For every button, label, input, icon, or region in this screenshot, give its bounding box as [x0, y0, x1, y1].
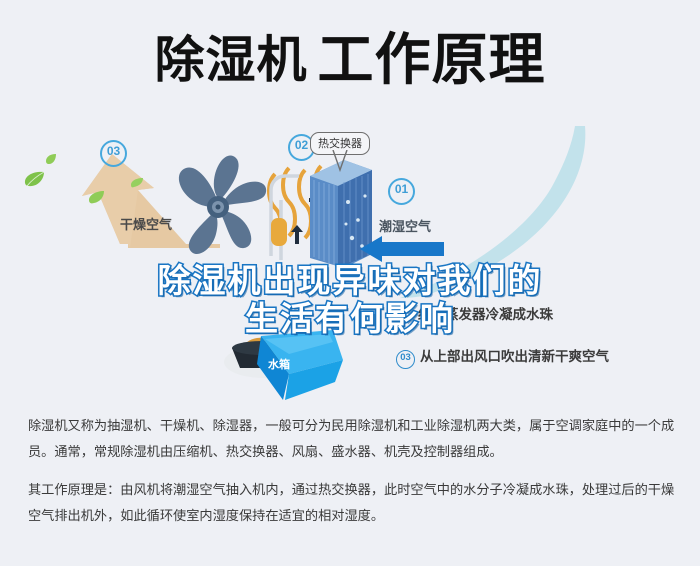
page-title-part2: 工作原理	[318, 32, 546, 88]
leaf-icon	[88, 190, 106, 210]
diagram-badge-03: 03	[100, 140, 127, 167]
legend-item-02: 经过蒸发器冷凝成水珠	[418, 303, 553, 323]
diagram-badge-01: 01	[388, 178, 415, 205]
leaf-icon	[24, 170, 46, 193]
infographic-page: 除湿机工作原理	[0, 0, 700, 566]
legend-item-03-label: 从上部出风口吹出清新干爽空气	[420, 349, 609, 365]
legend-badge-03: 03	[396, 350, 415, 369]
label-water-tank: 水箱	[268, 356, 290, 372]
label-dry-air: 干燥空气	[120, 214, 172, 233]
body-paragraph-1: 除湿机又称为抽湿机、干燥机、除湿器，一般可分为民用除湿机和工业除湿机两大类，属于…	[28, 414, 676, 466]
humid-air-inflow-arrow	[358, 236, 444, 262]
callout-pointer-icon	[332, 150, 348, 172]
leaf-icon	[130, 176, 144, 194]
humid-airflow-swoosh	[390, 126, 690, 316]
body-paragraph-2: 其工作原理是：由风机将潮湿空气抽入机内，通过热交换器，此时空气中的水分子冷凝成水…	[28, 478, 676, 530]
leaf-icon	[44, 152, 58, 171]
page-title: 除湿机工作原理	[0, 32, 700, 88]
legend-item-03: 03从上部出风口吹出清新干爽空气	[396, 345, 609, 369]
label-humid-air: 潮湿空气	[379, 216, 431, 235]
article-body: 除湿机又称为抽湿机、干燥机、除湿器，一般可分为民用除湿机和工业除湿机两大类，属于…	[28, 414, 676, 530]
fan-illustration	[158, 150, 276, 260]
page-title-part1: 除湿机	[155, 35, 308, 85]
